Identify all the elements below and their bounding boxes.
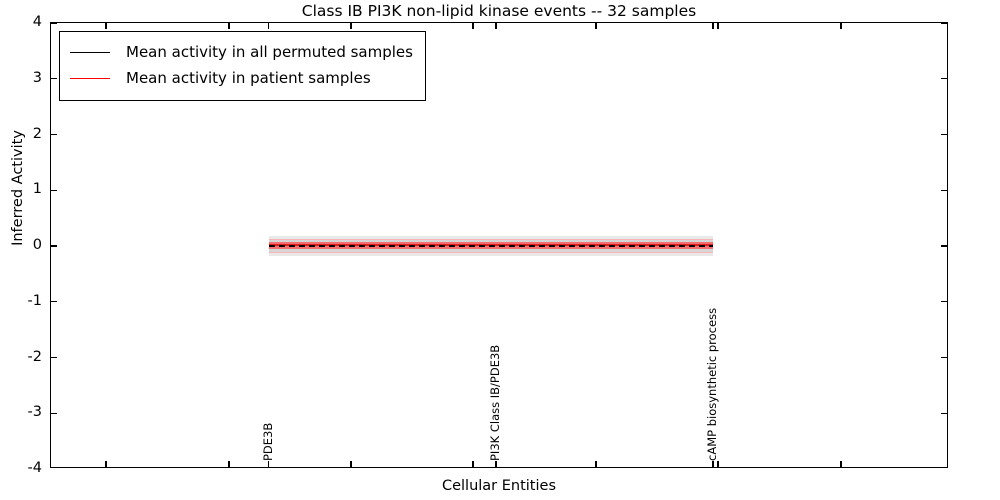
y-axis-tick-mark: [51, 301, 57, 302]
x-axis-tick-mark: [228, 461, 229, 467]
y-axis-tick-label: 2: [0, 127, 42, 141]
y-axis-tick-mark: [51, 78, 57, 79]
x-axis-category-label: cAMP biosynthetic process: [707, 308, 718, 461]
x-axis-tick-mark: [595, 23, 596, 29]
legend-entry-label: Mean activity in all permuted samples: [126, 44, 413, 60]
y-axis-tick-mark: [51, 357, 57, 358]
y-axis-tick-label: -2: [0, 350, 42, 364]
x-axis-tick-mark: [595, 461, 596, 467]
chart-title: Class IB PI3K non-lipid kinase events --…: [50, 1, 948, 21]
y-axis-tick-label: 0: [0, 238, 42, 252]
legend-entry: Mean activity in all permuted samples: [70, 39, 413, 65]
permuted-mean-line: [269, 245, 713, 247]
x-axis-tick-mark: [472, 23, 473, 29]
x-axis-tick-mark: [495, 23, 496, 29]
y-axis-tick-label: -4: [0, 461, 42, 475]
x-axis-tick-mark: [472, 461, 473, 467]
y-axis-tick-mark: [51, 245, 57, 246]
chart-figure: Class IB PI3K non-lipid kinase events --…: [0, 0, 1000, 500]
x-axis-category-label: PDE3B: [263, 423, 274, 461]
x-axis-tick-mark: [712, 23, 713, 29]
y-axis-tick-mark: [941, 245, 947, 246]
x-axis-title: Cellular Entities: [50, 478, 948, 494]
y-axis-tick-mark: [51, 190, 57, 191]
x-axis-tick-mark: [350, 23, 351, 29]
x-axis-tick-mark: [495, 461, 496, 467]
x-axis-tick-mark: [268, 23, 269, 29]
y-axis-tick-mark: [51, 134, 57, 135]
chart-legend: Mean activity in all permuted samplesMea…: [59, 31, 426, 101]
y-axis-tick-label: -3: [0, 405, 42, 419]
y-axis-tick-mark: [941, 413, 947, 414]
y-axis-tick-mark: [51, 413, 57, 414]
x-axis-tick-mark: [712, 461, 713, 467]
x-axis-tick-mark: [105, 461, 106, 467]
x-axis-tick-mark: [840, 23, 841, 29]
y-axis-tick-mark: [941, 78, 947, 79]
x-axis-tick-mark: [105, 23, 106, 29]
y-axis-tick-label: 3: [0, 71, 42, 85]
y-axis-tick-mark: [941, 23, 947, 24]
plot-area: PDE3BPI3K Class IB/PDE3BcAMP biosyntheti…: [51, 23, 947, 467]
x-axis-tick-mark: [840, 461, 841, 467]
y-axis-tick-mark: [51, 23, 57, 24]
x-axis-category-label: PI3K Class IB/PDE3B: [490, 345, 501, 461]
y-axis-tick-mark: [941, 190, 947, 191]
y-axis-tick-label: -1: [0, 294, 42, 308]
y-axis-tick-mark: [941, 301, 947, 302]
y-axis-tick-label: 4: [0, 15, 42, 29]
plot-frame: PDE3BPI3K Class IB/PDE3BcAMP biosyntheti…: [50, 22, 948, 468]
x-axis-tick-mark: [350, 461, 351, 467]
y-axis-tick-mark: [941, 134, 947, 135]
x-axis-tick-mark: [717, 461, 718, 467]
x-axis-tick-mark: [268, 461, 269, 467]
legend-entry-label: Mean activity in patient samples: [126, 70, 371, 86]
legend-entry: Mean activity in patient samples: [70, 65, 413, 91]
y-axis-tick-label: 1: [0, 182, 42, 196]
legend-line-swatch: [70, 52, 110, 53]
x-axis-tick-mark: [228, 23, 229, 29]
legend-line-swatch: [70, 78, 110, 79]
y-axis-tick-mark: [941, 357, 947, 358]
x-axis-tick-mark: [717, 23, 718, 29]
